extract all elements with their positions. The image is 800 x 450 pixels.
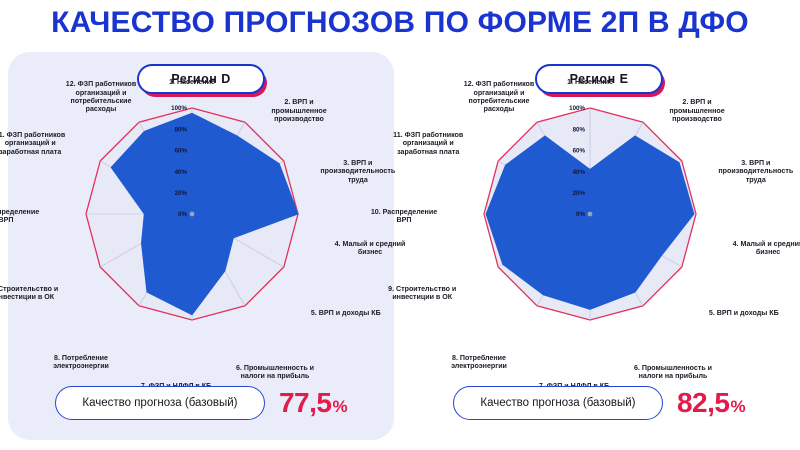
radar-tick-label: 80% bbox=[175, 126, 188, 133]
radar-chart-region-d: 0%20%40%60%80%100%1. Население2. ВРП и п… bbox=[8, 96, 394, 376]
radar-tick-label: 20% bbox=[573, 190, 586, 197]
score-value: 77,5% bbox=[279, 387, 347, 419]
radar-center-point bbox=[588, 212, 593, 217]
radar-tick-label: 80% bbox=[573, 126, 586, 133]
score-number: 82,5 bbox=[677, 387, 730, 419]
radar-tick-label: 100% bbox=[569, 105, 585, 112]
radar-tick-label: 20% bbox=[175, 190, 188, 197]
panel-region-e: Регион E 0%20%40%60%80%100%1. Население2… bbox=[406, 52, 792, 440]
radar-tick-label: 60% bbox=[175, 148, 188, 155]
region-badge: Регион E bbox=[535, 64, 663, 94]
radar-tick-label: 40% bbox=[175, 169, 188, 176]
score-number: 77,5 bbox=[279, 387, 332, 419]
panel-region-d: Регион D 0%20%40%60%80%100%1. Население2… bbox=[8, 52, 394, 440]
radar-svg: 0%20%40%60%80%100% bbox=[406, 96, 792, 376]
region-badge: Регион D bbox=[137, 64, 265, 94]
radar-tick-label: 60% bbox=[573, 148, 586, 155]
radar-svg: 0%20%40%60%80%100% bbox=[8, 96, 394, 376]
score-row: Качество прогноза (базовый) 82,5% bbox=[406, 382, 792, 424]
score-label-pill: Качество прогноза (базовый) bbox=[453, 386, 663, 420]
score-label-pill: Качество прогноза (базовый) bbox=[55, 386, 265, 420]
page-title: КАЧЕСТВО ПРОГНОЗОВ ПО ФОРМЕ 2П В ДФО bbox=[0, 6, 800, 40]
radar-tick-label: 0% bbox=[178, 211, 187, 218]
radar-tick-label: 40% bbox=[573, 169, 586, 176]
score-percent-sign: % bbox=[730, 397, 745, 417]
radar-chart-region-e: 0%20%40%60%80%100%1. Население2. ВРП и п… bbox=[406, 96, 792, 376]
radar-center-point bbox=[190, 212, 195, 217]
score-row: Качество прогноза (базовый) 77,5% bbox=[8, 382, 394, 424]
score-percent-sign: % bbox=[332, 397, 347, 417]
score-value: 82,5% bbox=[677, 387, 745, 419]
radar-tick-label: 100% bbox=[171, 105, 187, 112]
radar-tick-label: 0% bbox=[576, 211, 585, 218]
slide-root: КАЧЕСТВО ПРОГНОЗОВ ПО ФОРМЕ 2П В ДФО Рег… bbox=[0, 0, 800, 450]
